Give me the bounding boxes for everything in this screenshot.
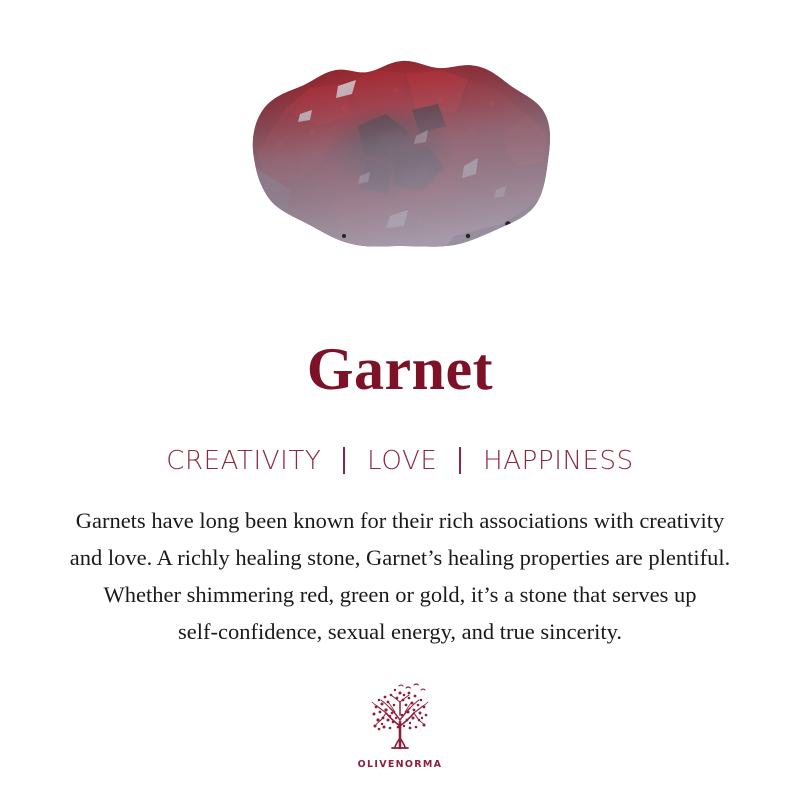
brand-wordmark: OLIVENORMA	[0, 759, 800, 770]
garnet-info-card: Garnet CREATIVITY LOVE HAPPINESS Garnets…	[0, 0, 800, 800]
description-text: Garnets have long been known for their r…	[28, 502, 772, 650]
keyword-happiness: HAPPINESS	[483, 446, 634, 476]
raw-garnet-crystal-image	[240, 40, 560, 260]
birds-icon	[399, 684, 425, 690]
keyword-separator	[343, 447, 345, 474]
tree-of-life-icon	[366, 682, 434, 752]
gemstone-image-container	[0, 40, 800, 285]
keyword-separator	[459, 447, 461, 474]
description-line: self-confidence, sexual energy, and true…	[28, 613, 772, 650]
gemstone-body	[240, 40, 560, 260]
brand-logo: OLIVENORMA	[0, 682, 800, 770]
keyword-strip: CREATIVITY LOVE HAPPINESS	[0, 444, 800, 478]
keyword-love: LOVE	[367, 446, 437, 476]
description-line: Garnets have long been known for their r…	[28, 502, 772, 539]
description-line: and love. A richly healing stone, Garnet…	[28, 539, 772, 576]
keyword-creativity: CREATIVITY	[166, 446, 321, 476]
page-title: Garnet	[0, 336, 800, 402]
description-line: Whether shimmering red, green or gold, i…	[28, 576, 772, 613]
